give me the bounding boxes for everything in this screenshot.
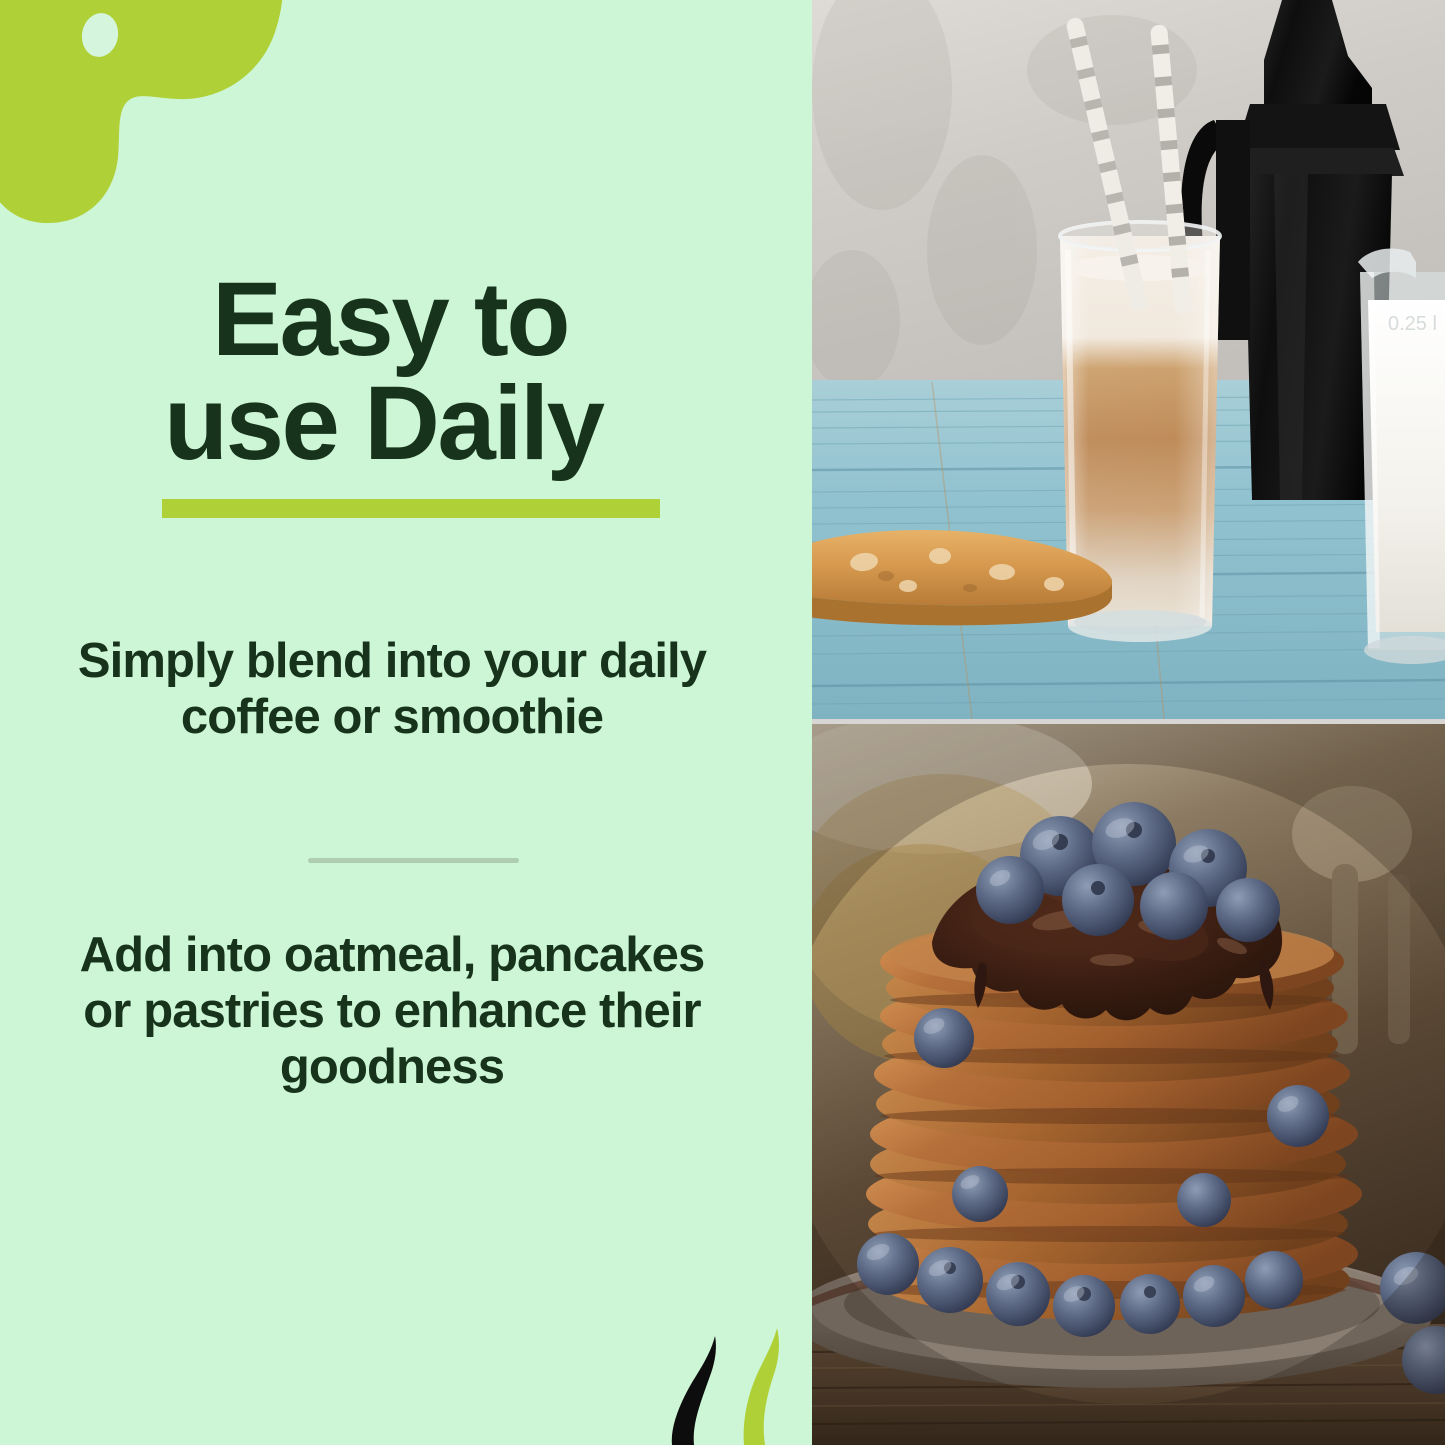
headline-line-1: Easy to (212, 261, 568, 378)
milk-jug: 0.25 l (1358, 249, 1445, 665)
section-divider (308, 858, 519, 863)
black-swoosh-mark-icon (672, 1336, 716, 1445)
benefit-text-2: Add into oatmeal, pancakes or pastries t… (72, 928, 712, 1096)
photo-column: 0.25 l (812, 0, 1445, 1445)
headline-underline-accent (162, 499, 660, 518)
pancake-stack-photo (812, 724, 1445, 1445)
swoosh-decoration-group (620, 1320, 812, 1445)
benefit-text-1: Simply blend into your daily coffee or s… (72, 634, 712, 746)
jug-volume-marking: 0.25 l (1388, 313, 1437, 335)
page-title: Easy to use Daily (212, 268, 772, 476)
latte-coffee-photo: 0.25 l (812, 0, 1445, 719)
green-splat-blob-icon (0, 0, 290, 225)
headline-line-2: use Daily (164, 372, 772, 476)
lime-swoosh-mark-icon (744, 1328, 779, 1445)
infographic-canvas: Easy to use Daily Simply blend into your… (0, 0, 1445, 1445)
left-content-panel: Easy to use Daily Simply blend into your… (0, 0, 812, 1445)
